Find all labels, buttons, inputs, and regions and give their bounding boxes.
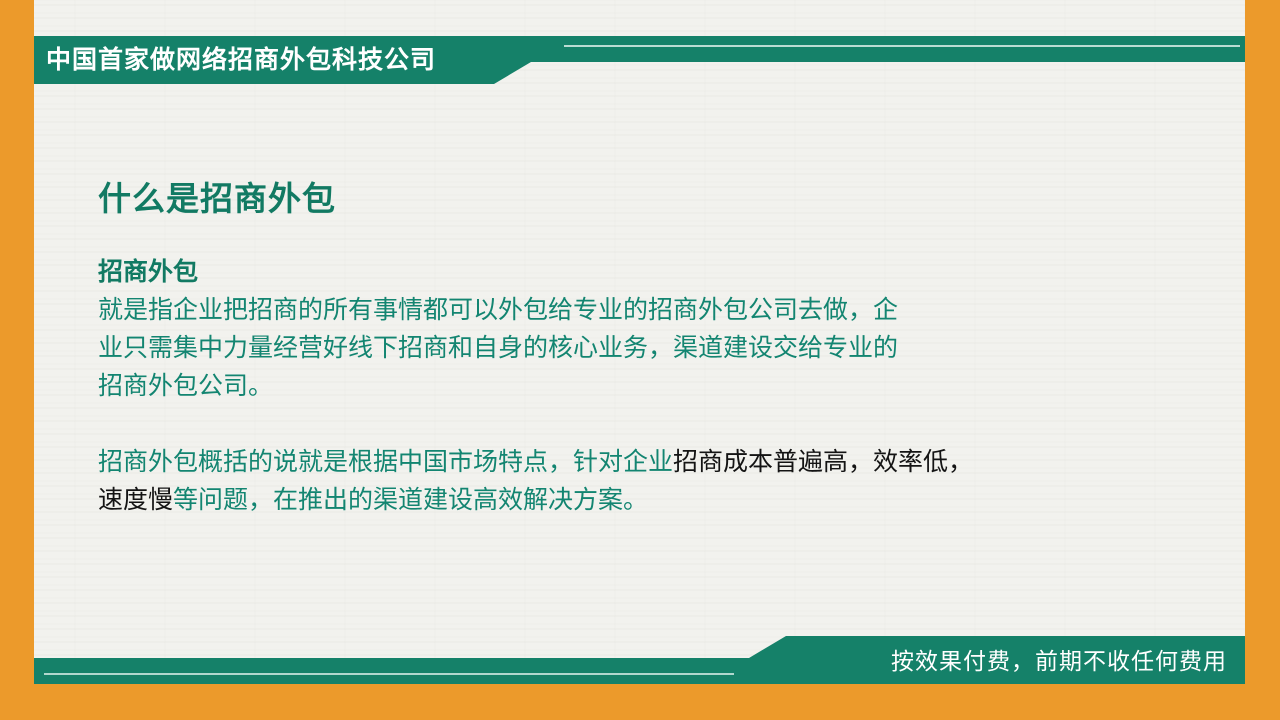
page-title: 什么是招商外包: [98, 172, 336, 220]
paragraph2-line1-highlight: 招商成本普遍高，效率低，: [673, 448, 973, 476]
lead-label: 招商外包: [98, 255, 1228, 289]
slide-root: 中国首家做网络招商外包科技公司 什么是招商外包 招商外包 就是指企业把招商的所有…: [0, 0, 1280, 720]
header-band: 中国首家做网络招商外包科技公司: [34, 36, 1245, 84]
footer-band: 按效果付费，前期不收任何费用: [34, 636, 1245, 684]
paragraph1-line3: 招商外包公司。: [98, 367, 1228, 405]
paragraph2-line2-highlight: 速度慢: [98, 486, 173, 514]
header-title: 中国首家做网络招商外包科技公司: [46, 39, 436, 81]
paragraph1-line1: 就是指企业把招商的所有事情都可以外包给专业的招商外包公司去做，企: [98, 291, 1228, 329]
paragraph1-line2: 业只需集中力量经营好线下招商和自身的核心业务，渠道建设交给专业的: [98, 329, 1228, 367]
header-accent-line: [564, 45, 1240, 47]
paragraph2-line1: 招商外包概括的说就是根据中国市场特点，针对企业招商成本普遍高，效率低，: [98, 443, 1228, 481]
main-content: 什么是招商外包 招商外包 就是指企业把招商的所有事情都可以外包给专业的招商外包公…: [34, 100, 1245, 620]
paragraph2-line2: 速度慢等问题，在推出的渠道建设高效解决方案。: [98, 481, 1228, 519]
footer-tagline: 按效果付费，前期不收任何费用: [891, 640, 1227, 682]
paragraph2-line1-normal: 招商外包概括的说就是根据中国市场特点，针对企业: [98, 448, 673, 476]
footer-accent-line: [44, 673, 734, 675]
paragraph2-line2-normal: 等问题，在推出的渠道建设高效解决方案。: [173, 486, 648, 514]
body-text-block: 招商外包 就是指企业把招商的所有事情都可以外包给专业的招商外包公司去做，企 业只…: [98, 255, 1228, 519]
